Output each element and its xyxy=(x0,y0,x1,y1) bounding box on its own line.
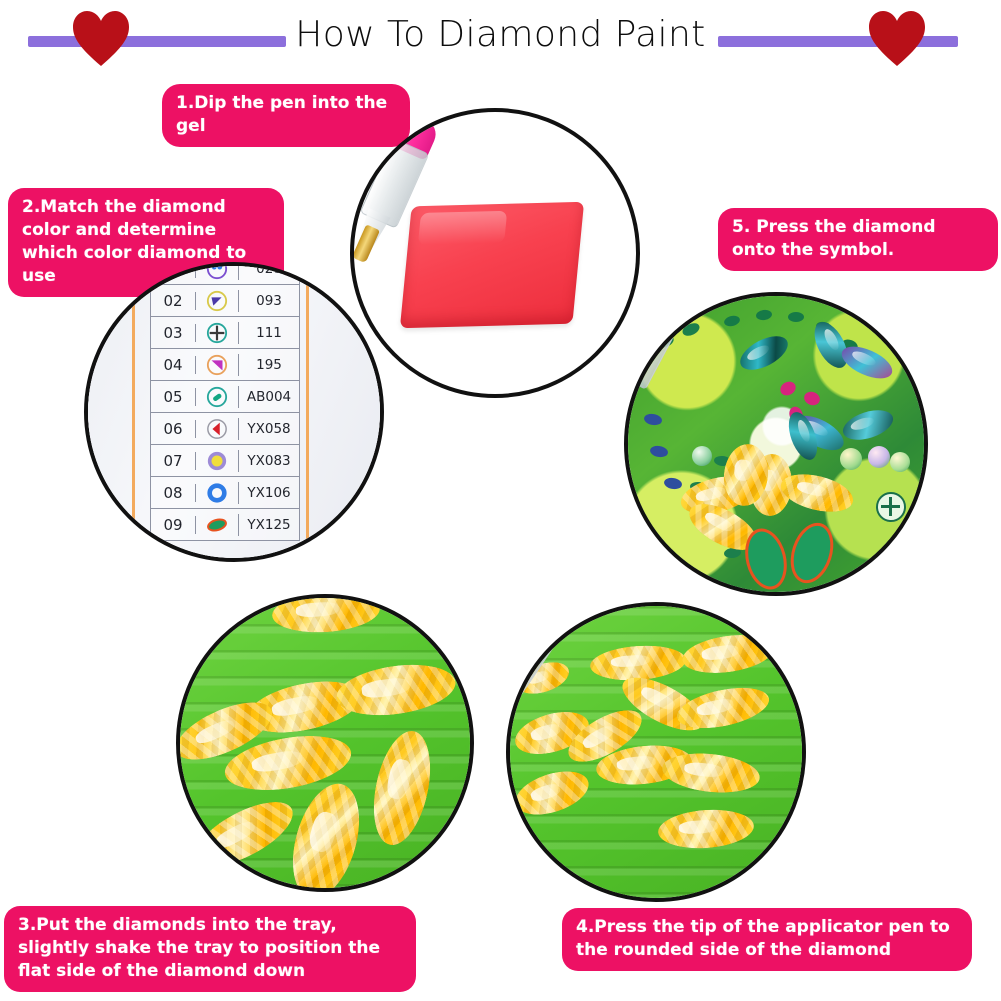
diamond-marquise xyxy=(680,630,776,678)
step-5-label: 5. Press the diamond onto the symbol. xyxy=(718,208,998,271)
table-row: 01 028 xyxy=(150,262,300,285)
plus-icon xyxy=(196,322,239,344)
printed-symbol-dot xyxy=(788,312,804,322)
diamond-round xyxy=(692,446,712,466)
printed-symbol-dot xyxy=(663,477,683,491)
row-number: 06 xyxy=(151,420,196,438)
step-1-photo xyxy=(350,108,640,398)
row-number: 04 xyxy=(151,356,196,374)
diamond-navette xyxy=(839,405,896,446)
diamonds-in-tray-photo xyxy=(180,598,470,888)
diamond-marquise xyxy=(510,763,594,823)
printed-leaf-symbol xyxy=(783,517,840,588)
infographic-canvas: How To Diamond Paint 1.Dip the pen into … xyxy=(0,0,1001,1001)
diamond-marquise xyxy=(657,807,755,852)
plus-icon xyxy=(876,492,906,522)
table-row: 04 195 xyxy=(150,349,300,381)
table-row: 08 YX106 xyxy=(150,477,300,509)
diamond-navette xyxy=(837,340,896,385)
table-row: 07 YX083 xyxy=(150,445,300,477)
table-row: 05 AB004 xyxy=(150,381,300,413)
gel-pad xyxy=(400,202,584,328)
diamond-navette xyxy=(735,329,793,376)
pen-picking-diamond-photo xyxy=(510,606,802,898)
printed-symbol-dot xyxy=(778,379,798,398)
step-3-label: 3.Put the diamonds into the tray, slight… xyxy=(4,906,416,992)
diamond-marquise xyxy=(281,776,371,892)
triangle-icon xyxy=(196,354,239,376)
color-code: YX058 xyxy=(239,421,299,437)
diamond-round xyxy=(890,452,910,472)
color-code: YX106 xyxy=(239,485,299,501)
diamond-marquise xyxy=(271,594,382,636)
header-banner: How To Diamond Paint xyxy=(0,0,1001,78)
row-number: 05 xyxy=(151,388,196,406)
printed-symbol-dot xyxy=(802,390,821,408)
row-number: 03 xyxy=(151,324,196,342)
step-4-photo xyxy=(506,602,806,902)
printed-symbol-dot xyxy=(681,321,702,339)
diamond-round xyxy=(840,448,862,470)
color-code: YX125 xyxy=(239,517,299,533)
chart-guide-line xyxy=(306,266,309,558)
double-dot-icon xyxy=(196,262,239,280)
table-row: 02 093 xyxy=(150,285,300,317)
diamond-marquise xyxy=(333,658,459,722)
step-3-photo xyxy=(176,594,474,892)
color-legend-table: 01 028 02 093 03 xyxy=(150,262,300,541)
printed-symbol-dot xyxy=(755,309,772,321)
diamond-marquise xyxy=(589,643,687,684)
page-title: How To Diamond Paint xyxy=(0,12,1001,58)
table-row: 03 111 xyxy=(150,317,300,349)
step-5-photo xyxy=(624,292,928,596)
row-number: 02 xyxy=(151,292,196,310)
row-number: 09 xyxy=(151,516,196,534)
printed-symbol-dot xyxy=(643,413,663,427)
color-code: AB004 xyxy=(239,389,299,405)
pen-tip xyxy=(352,224,380,263)
diamond-marquise xyxy=(365,726,440,850)
color-code: 111 xyxy=(239,325,299,341)
color-chart-photo: 01 028 02 093 03 xyxy=(88,266,380,558)
chevron-left-icon xyxy=(196,418,239,440)
triangle-icon xyxy=(196,290,239,312)
ring-icon xyxy=(196,482,239,504)
table-row: 06 YX058 xyxy=(150,413,300,445)
color-code: 093 xyxy=(239,293,299,309)
color-code: YX083 xyxy=(239,453,299,469)
table-row: 09 YX125 xyxy=(150,509,300,541)
color-code: 195 xyxy=(239,357,299,373)
placing-diamond-on-canvas-photo xyxy=(628,296,924,592)
pill-icon xyxy=(196,386,239,408)
step-4-label: 4.Press the tip of the applicator pen to… xyxy=(562,908,972,971)
diamond-marquise xyxy=(186,789,302,879)
diamond-round xyxy=(868,446,890,468)
printed-symbol-dot xyxy=(649,445,669,459)
pen-dipping-in-gel-photo xyxy=(354,112,636,394)
row-number: 08 xyxy=(151,484,196,502)
leaf-icon xyxy=(196,514,239,536)
step-2-photo: 01 028 02 093 03 xyxy=(84,262,384,562)
row-number: 07 xyxy=(151,452,196,470)
chart-guide-line xyxy=(132,266,135,558)
printed-symbol-dot xyxy=(723,314,741,328)
filled-circle-icon xyxy=(196,450,239,472)
